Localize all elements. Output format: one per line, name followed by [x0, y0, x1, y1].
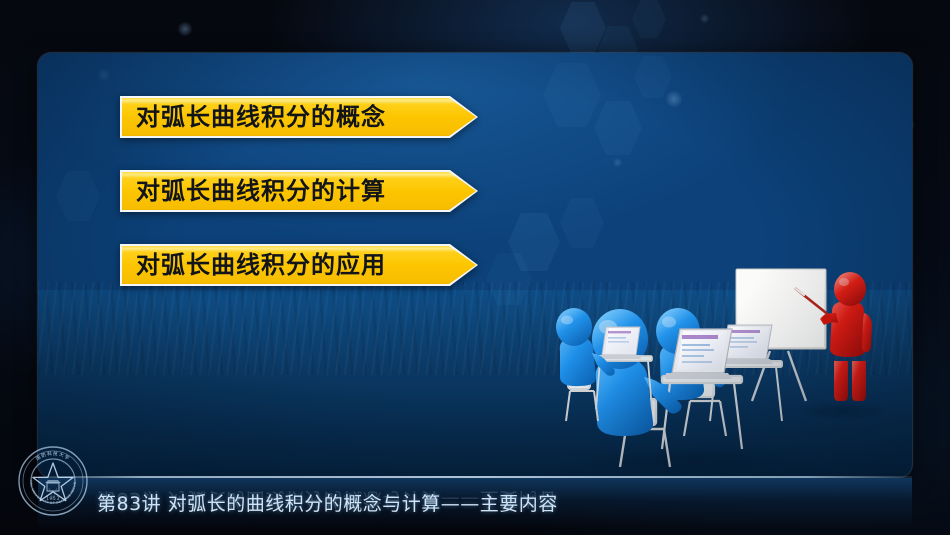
footer-caption: 第83讲 对弧长的曲线积分的概念与计算——主要内容 — [97, 489, 558, 516]
topic-banner-1[interactable]: 对弧长曲线积分的概念 — [120, 96, 478, 138]
topic-banner-1-label: 对弧长曲线积分的概念 — [120, 105, 386, 129]
topic-banner-2[interactable]: 对弧长曲线积分的计算 — [120, 170, 478, 212]
background-light-dot — [700, 14, 709, 23]
svg-text:国防科技大学: 国防科技大学 — [35, 450, 72, 462]
background-light-dot — [178, 22, 192, 36]
logo-gate-roof — [45, 480, 61, 483]
topic-banner-3-label: 对弧长曲线积分的应用 — [120, 253, 386, 277]
topic-banner-2-label: 对弧长曲线积分的计算 — [120, 179, 386, 203]
logo-gate — [47, 483, 59, 491]
logo-year: 1953 — [46, 496, 60, 501]
slide-canvas: 对弧长曲线积分的概念 对弧长曲线积分的计算 对弧长曲线积分的应用 第83讲 对弧… — [0, 0, 950, 535]
footer-divider — [38, 476, 912, 478]
university-logo: 国防科技大学 NATIONAL UNIVERSITY OF DEFENSE TE… — [16, 444, 90, 518]
topic-banner-3[interactable]: 对弧长曲线积分的应用 — [120, 244, 478, 286]
